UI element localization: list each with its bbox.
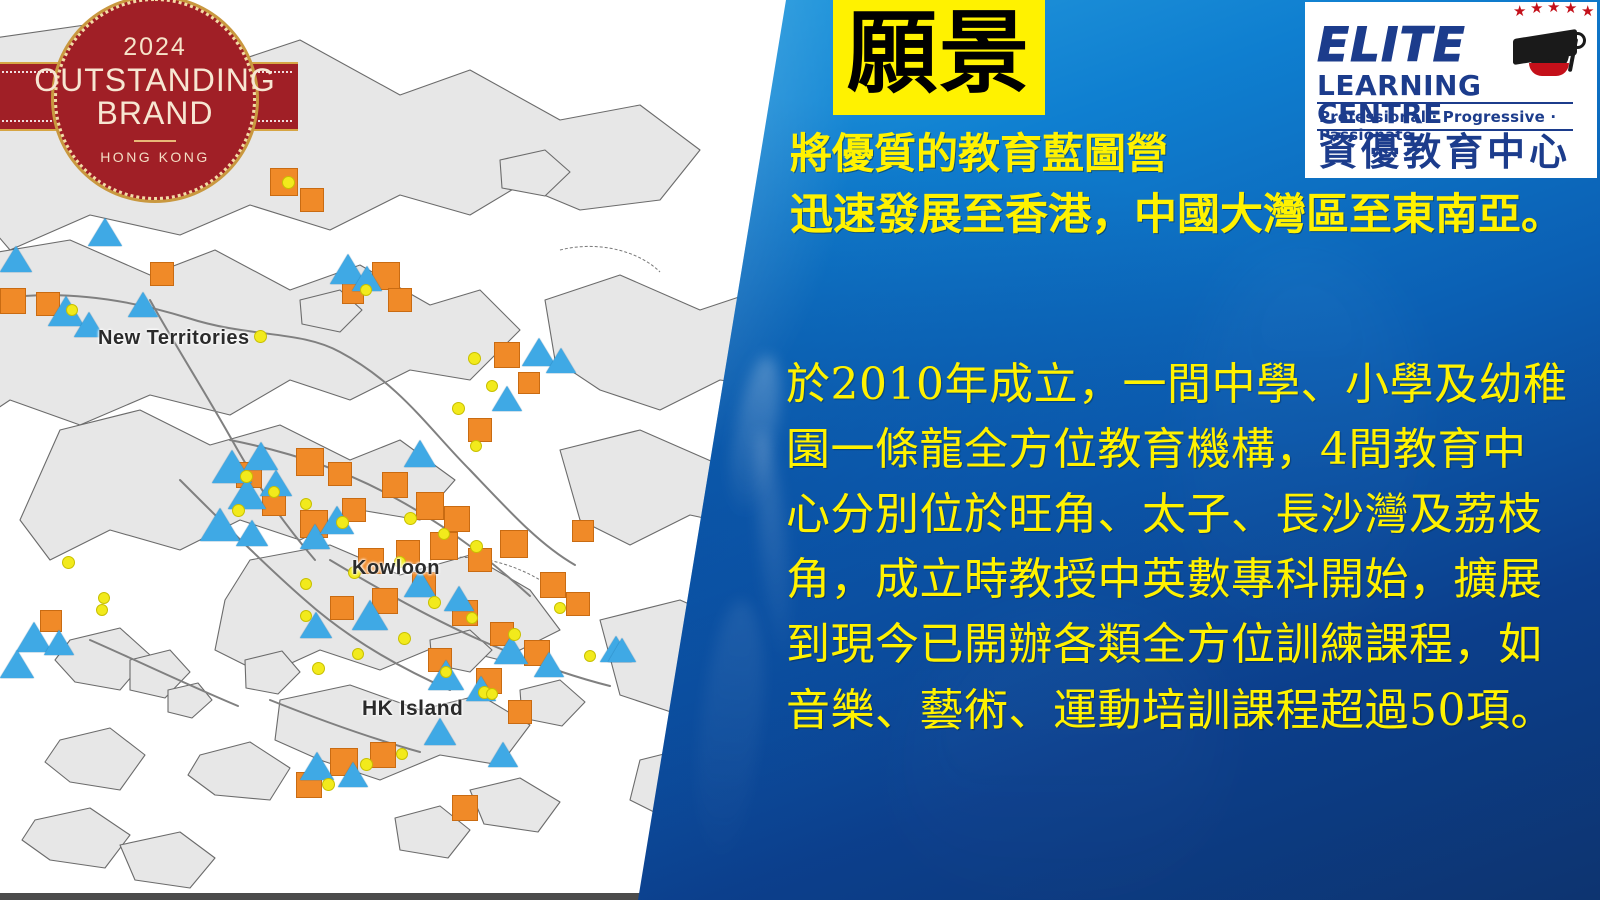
map-label-hk-island: HK Island <box>362 697 463 721</box>
map-marker-triangle <box>128 292 158 317</box>
map-marker-triangle <box>44 630 74 655</box>
map-marker-dot <box>254 330 267 343</box>
map-marker-dot <box>98 592 110 604</box>
map-marker-triangle <box>444 586 474 611</box>
map-marker-triangle <box>488 742 518 767</box>
map-marker-square <box>452 795 478 821</box>
map-marker-triangle <box>404 440 436 467</box>
map-marker-dot <box>322 778 335 791</box>
map-marker-dot <box>398 632 411 645</box>
map-marker-dot <box>584 650 596 662</box>
map-marker-dot <box>438 528 450 540</box>
map-marker-triangle <box>424 718 456 745</box>
map-marker-square <box>572 520 594 542</box>
map-marker-dot <box>440 666 452 678</box>
award-badge-location: HONG KONG <box>100 149 210 165</box>
body-paragraph: 於2010年成立，一間中學、小學及幼稚 園一條龍全方位教育機構，4間教育中 心分… <box>786 352 1586 743</box>
slide-root: New Territories Kowloon HK Island 2024 O… <box>0 0 1600 900</box>
map-marker-triangle <box>534 652 564 677</box>
lead-line-2: 迅速發展至香港，中國大灣區至東南亞。 <box>790 189 1590 241</box>
body-line: 園一條龍全方位教育機構，4間教育中 <box>786 417 1586 482</box>
map-marker-square <box>444 506 470 532</box>
map-marker-square <box>494 342 520 368</box>
map-bottom-border <box>0 893 660 900</box>
slide-title-box: 願景 <box>833 0 1045 115</box>
map-marker-dot <box>360 284 372 296</box>
award-badge-divider <box>134 140 176 142</box>
map-marker-square <box>382 472 408 498</box>
award-badge-seal: 2024 OUTSTANDING BRAND HONG KONG <box>54 0 256 200</box>
map-marker-square <box>150 262 174 286</box>
map-marker-square <box>416 492 444 520</box>
map-marker-square <box>388 288 412 312</box>
map-marker-dot <box>352 648 364 660</box>
map-marker-dot <box>470 440 482 452</box>
map-marker-dot <box>452 402 465 415</box>
logo-divider-top <box>1317 102 1573 104</box>
map-marker-dot <box>396 748 408 760</box>
map-marker-square <box>296 448 324 476</box>
map-marker-square <box>370 742 396 768</box>
map-marker-dot <box>232 504 245 517</box>
map-marker-dot <box>300 610 312 622</box>
body-line: 心分別位於旺角、太子、長沙灣及荔枝 <box>786 482 1586 547</box>
map-marker-triangle <box>352 600 388 630</box>
map-marker-triangle <box>0 650 34 678</box>
award-badge-year: 2024 <box>123 33 187 62</box>
body-line: 到現今已開辦各類全方位訓練課程，如 <box>786 612 1586 677</box>
lead-line-1: 將優質的教育藍圖營 <box>790 128 1590 179</box>
map-marker-square <box>500 530 528 558</box>
star-icon: ★ <box>1564 2 1577 16</box>
award-badge-line1: OUTSTANDING <box>34 64 276 97</box>
map-marker-triangle <box>88 218 122 246</box>
map-marker-dot <box>486 380 498 392</box>
map-marker-dot <box>268 486 280 498</box>
map-marker-square <box>0 288 26 314</box>
lead-statement: 將優質的教育藍圖營 迅速發展至香港，中國大灣區至東南亞。 <box>790 128 1590 242</box>
logo-name-elite: ELITE <box>1317 22 1466 69</box>
map-marker-dot <box>62 556 75 569</box>
map-marker-dot <box>66 304 78 316</box>
map-marker-dot <box>312 662 325 675</box>
map-marker-dot <box>300 498 312 510</box>
map-marker-triangle <box>0 246 32 272</box>
map-marker-square <box>540 572 566 598</box>
map-label-kowloon: Kowloon <box>352 557 440 580</box>
map-marker-square <box>300 188 324 212</box>
map-marker-dot <box>508 628 521 641</box>
map-marker-dot <box>554 602 566 614</box>
map-label-new-territories: New Territories <box>98 327 250 350</box>
map-marker-dot <box>466 612 478 624</box>
map-marker-dot <box>336 516 349 529</box>
map-marker-dot <box>486 688 498 700</box>
map-marker-dot <box>470 540 483 553</box>
map-marker-triangle <box>546 348 576 373</box>
map-marker-square <box>328 462 352 486</box>
map-marker-triangle <box>244 442 278 470</box>
map-marker-square <box>330 596 354 620</box>
award-badge: 2024 OUTSTANDING BRAND HONG KONG <box>8 0 298 203</box>
star-icon: ★ <box>1530 2 1543 16</box>
map-marker-square <box>468 418 492 442</box>
map-marker-dot <box>96 604 108 616</box>
map-marker-dot <box>360 758 373 771</box>
map-marker-square <box>566 592 590 616</box>
map-marker-dot <box>428 596 441 609</box>
map-marker-dot <box>300 578 312 590</box>
award-badge-line2: BRAND <box>96 97 213 131</box>
body-line: 音樂、藝術、運動培訓課程超過50項。 <box>786 678 1586 743</box>
map-marker-dot <box>404 512 417 525</box>
body-line: 於2010年成立，一間中學、小學及幼稚 <box>786 352 1586 417</box>
star-icon: ★ <box>1547 2 1560 15</box>
page-title: 願景 <box>847 4 1031 105</box>
map-marker-triangle <box>300 752 334 780</box>
map-marker-dot <box>468 352 481 365</box>
map-marker-triangle <box>608 638 636 662</box>
body-line: 角，成立時教授中英數專科開始，擴展 <box>786 547 1586 612</box>
map-marker-square <box>508 700 532 724</box>
map-marker-dot <box>240 470 253 483</box>
map-marker-triangle <box>236 520 268 546</box>
